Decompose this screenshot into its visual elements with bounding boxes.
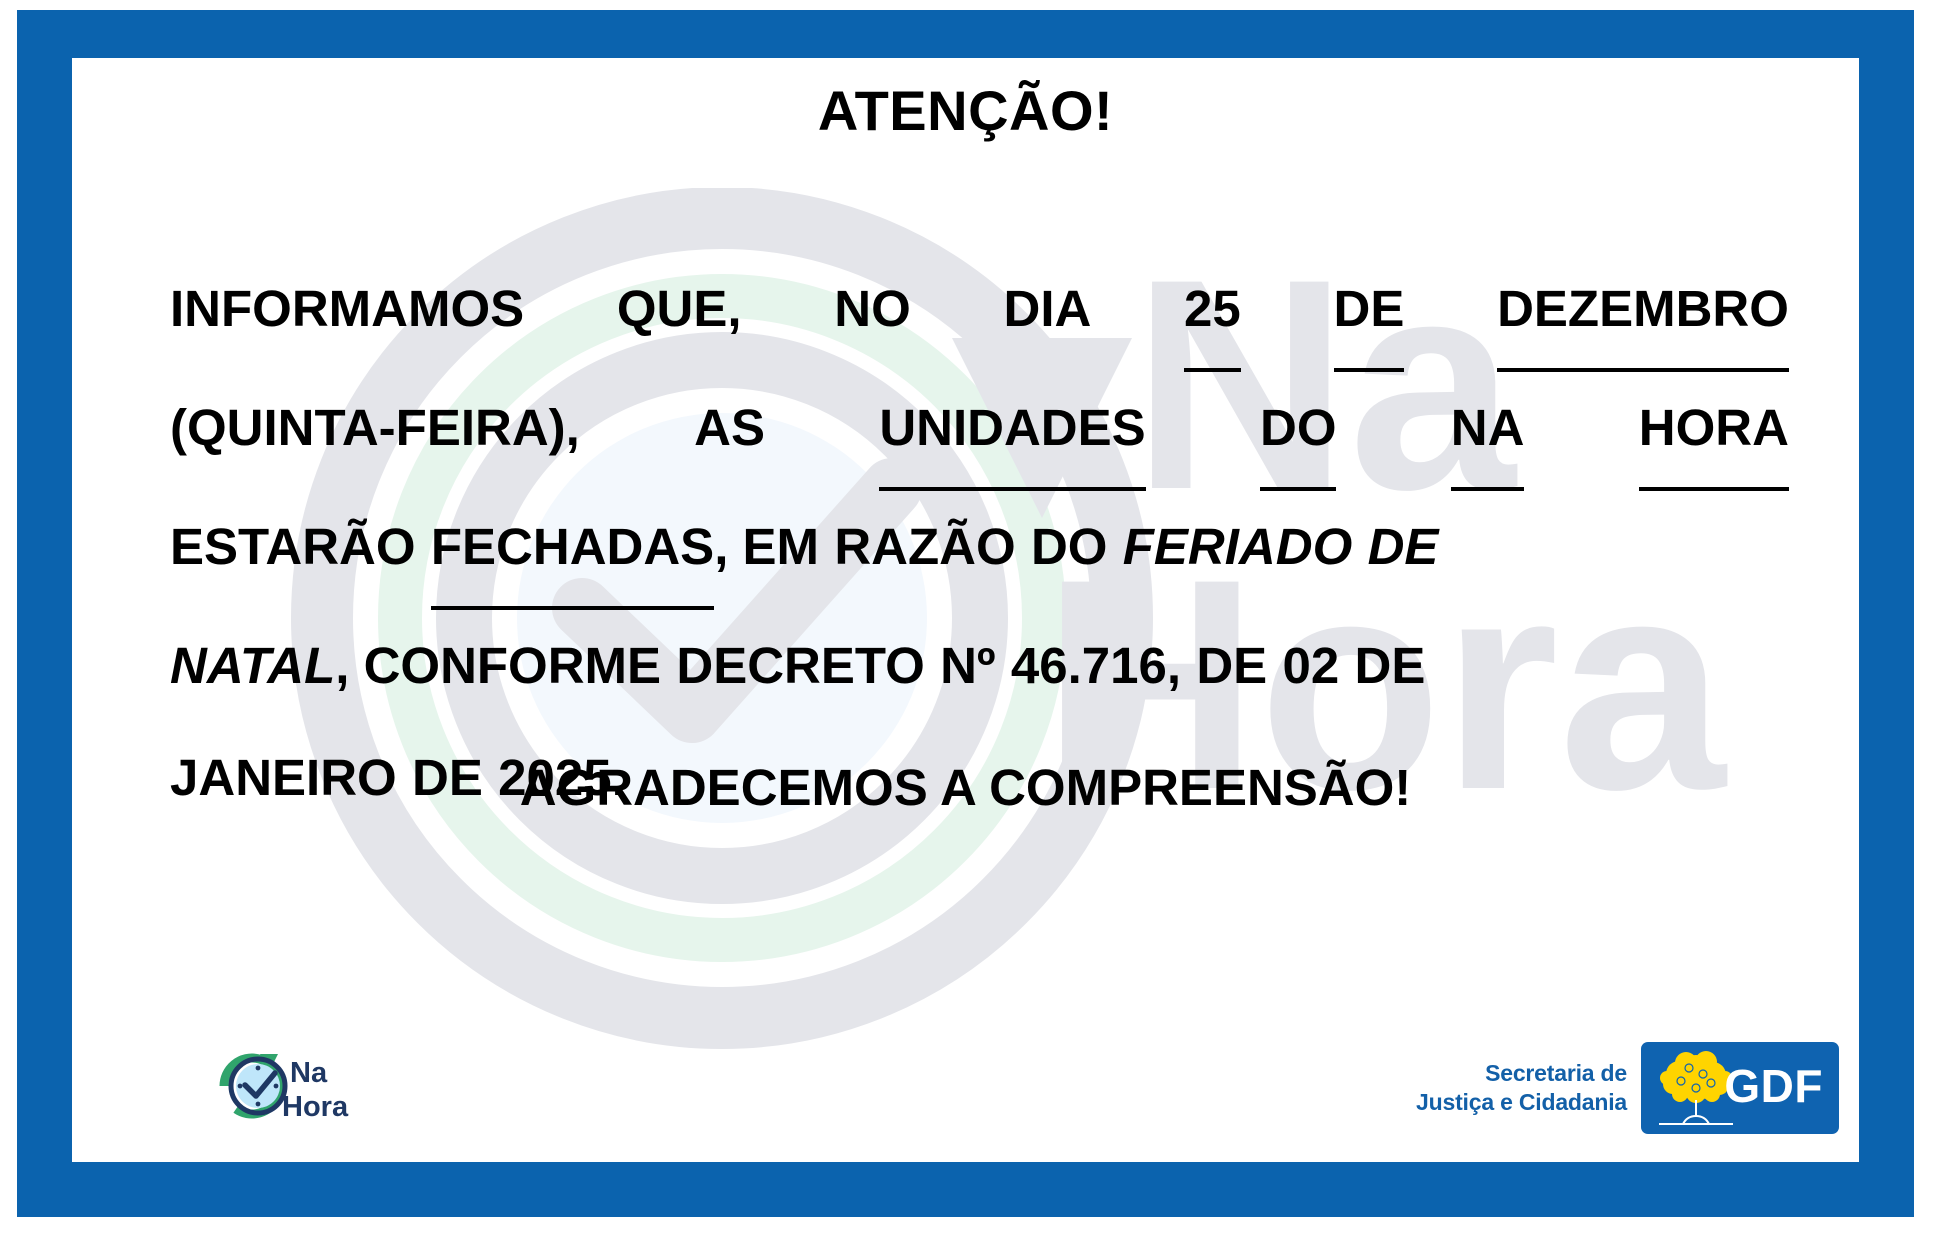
poster-inner: Na Hora ATENÇÃO! INFORMAMOS QUE, NO DIA … <box>72 58 1859 1162</box>
body-seg: DO <box>1031 491 1108 603</box>
body-seg: DECRETO <box>676 610 924 722</box>
page-title: ATENÇÃO! <box>72 78 1859 143</box>
body-seg: INFORMAMOS <box>170 253 524 365</box>
poster-content: ATENÇÃO! INFORMAMOS QUE, NO DIA 25 DE DE… <box>72 58 1859 1162</box>
body-seg-emphasis: DO <box>1260 372 1337 491</box>
na-hora-logo: Na Hora <box>202 1040 412 1132</box>
body-seg-italic: DE <box>1368 491 1439 603</box>
svg-text:Hora: Hora <box>282 1091 349 1123</box>
body-seg: Nº <box>940 610 995 722</box>
body-seg: DE <box>1355 610 1426 722</box>
body-seg-emphasis: DE <box>1334 253 1405 372</box>
body-seg: DE <box>1196 610 1267 722</box>
body-seg-emphasis: NA <box>1451 372 1525 491</box>
body-seg: QUE, <box>617 253 742 365</box>
body-seg: ESTARÃO <box>170 491 416 603</box>
secretaria-logo-text: Secretaria de Justiça e Cidadania <box>1416 1059 1627 1117</box>
body-seg-emphasis: 25 <box>1184 253 1241 372</box>
body-seg-italic: FERIADO <box>1123 491 1353 603</box>
secretaria-line-1: Secretaria de <box>1416 1059 1627 1088</box>
body-line-4: NATAL , CONFORME DECRETO Nº 46.716, DE 0… <box>170 610 1789 722</box>
gdf-label: GDF <box>1724 1063 1823 1109</box>
poster-frame: Na Hora ATENÇÃO! INFORMAMOS QUE, NO DIA … <box>17 10 1914 1217</box>
body-seg: AS <box>694 372 765 484</box>
body-seg-emphasis: HORA <box>1639 372 1789 491</box>
body-seg-italic: NATAL <box>170 610 335 722</box>
na-hora-logo-icon: Na Hora <box>202 1040 412 1132</box>
body-seg: , EM <box>714 491 819 603</box>
body-line-1: INFORMAMOS QUE, NO DIA 25 DE DEZEMBRO <box>170 253 1789 372</box>
body-seg: RAZÃO <box>834 491 1015 603</box>
gdf-logo: GDF <box>1641 1042 1839 1134</box>
body-seg: 02 <box>1282 610 1339 722</box>
svg-text:Na: Na <box>290 1057 328 1089</box>
body-seg: 46.716, <box>1011 610 1181 722</box>
body-seg: (QUINTA-FEIRA), <box>170 372 580 484</box>
thanks-line: AGRADECEMOS A COMPREENSÃO! <box>72 758 1859 817</box>
secretaria-line-2: Justiça e Cidadania <box>1416 1088 1627 1117</box>
body-seg: DIA <box>1003 253 1091 365</box>
body-seg-emphasis: UNIDADES <box>879 372 1145 491</box>
body-seg: NO <box>834 253 911 365</box>
government-logos: Secretaria de Justiça e Cidadania <box>1416 1042 1839 1134</box>
body-line-3: ESTARÃO FECHADAS , EM RAZÃO DO FERIADO D… <box>170 491 1789 610</box>
body-seg-emphasis: FECHADAS <box>431 491 714 610</box>
announcement-body: INFORMAMOS QUE, NO DIA 25 DE DEZEMBRO (Q… <box>170 253 1789 834</box>
body-line-2: (QUINTA-FEIRA), AS UNIDADES DO NA HORA <box>170 372 1789 491</box>
body-seg: , CONFORME <box>335 610 661 722</box>
body-seg-emphasis: DEZEMBRO <box>1497 253 1789 372</box>
